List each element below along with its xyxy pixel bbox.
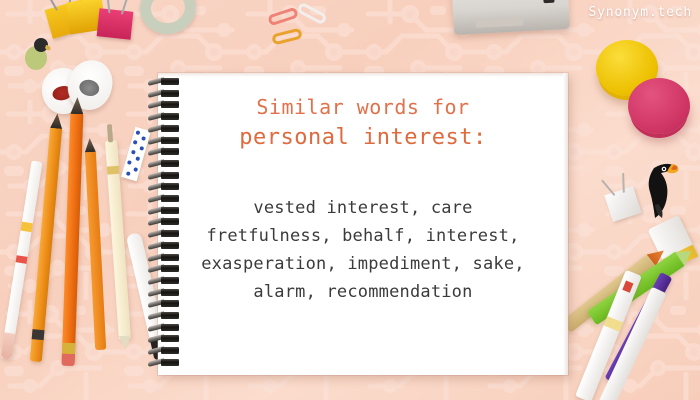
synonym-line: alarm, recommendation [158, 278, 568, 306]
search-term: personal interest: [158, 125, 568, 150]
notepad-content: Similar words for personal interest: ves… [158, 73, 568, 375]
binder-clip-pink [97, 8, 134, 39]
synonym-line: fretfulness, behalf, interest, [158, 222, 568, 250]
camera [450, 0, 570, 35]
eraser-bird-green [22, 36, 52, 70]
synonym-line: exasperation, impediment, sake, [158, 250, 568, 278]
site-watermark: Synonym.tech [588, 5, 692, 20]
camera-button-icon [543, 0, 555, 3]
macaron-pink [628, 78, 690, 134]
synonym-list: vested interest, care fretfulness, behal… [158, 194, 568, 306]
similar-words-prefix: Similar words for [158, 95, 568, 119]
toucan-figurine [636, 158, 680, 220]
synonym-line: vested interest, care [158, 194, 568, 222]
